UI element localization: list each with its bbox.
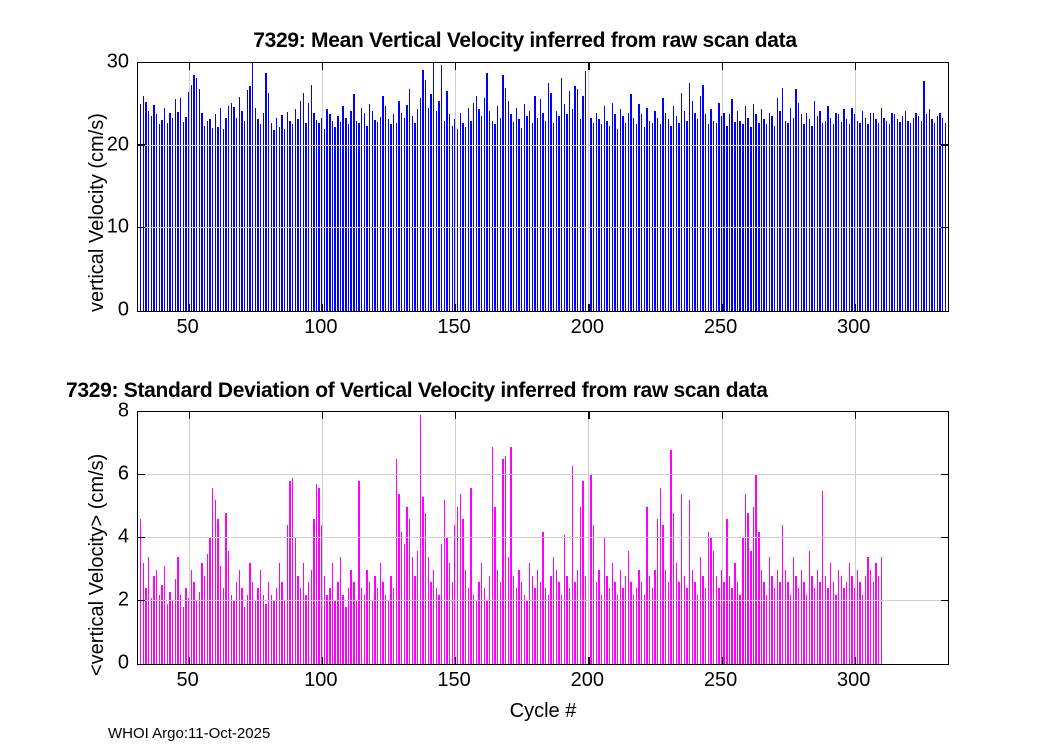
tick-x	[322, 412, 323, 419]
bar	[390, 124, 391, 311]
bar	[276, 118, 277, 311]
bar	[404, 118, 405, 311]
bar	[209, 538, 210, 664]
bar	[790, 108, 791, 311]
bar	[734, 122, 735, 311]
bar	[156, 570, 157, 665]
bar	[199, 592, 200, 664]
bar	[886, 121, 887, 311]
bar	[334, 601, 335, 664]
bar	[534, 96, 535, 311]
bar	[489, 576, 490, 664]
bar	[934, 123, 935, 311]
bar	[180, 98, 181, 311]
tick-y	[138, 144, 145, 145]
bar	[574, 86, 575, 311]
bar	[558, 582, 559, 664]
bar	[769, 557, 770, 664]
bar	[540, 582, 541, 664]
bar	[209, 119, 210, 311]
bar	[279, 127, 280, 311]
bar	[233, 107, 234, 311]
gridline-vertical	[855, 63, 856, 311]
bar	[380, 117, 381, 311]
bar	[513, 576, 514, 664]
bar	[657, 118, 658, 311]
tick-x	[455, 657, 456, 664]
tick-x	[722, 412, 723, 419]
bar	[580, 119, 581, 311]
bar	[324, 129, 325, 311]
bar	[819, 582, 820, 664]
tick-x	[855, 63, 856, 70]
bar	[657, 519, 658, 664]
bar	[785, 570, 786, 665]
bar	[191, 570, 192, 665]
bar	[425, 80, 426, 311]
bar	[761, 570, 762, 665]
bar	[793, 118, 794, 311]
bar	[870, 570, 871, 665]
bar	[574, 582, 575, 664]
bar	[785, 121, 786, 311]
bar	[921, 121, 922, 311]
bar	[401, 532, 402, 664]
bar	[180, 595, 181, 664]
bar	[239, 570, 240, 665]
bar	[644, 595, 645, 664]
bar	[295, 538, 296, 664]
bar	[881, 108, 882, 311]
bar	[692, 101, 693, 311]
bar	[577, 570, 578, 665]
bar	[915, 113, 916, 311]
tick-x	[322, 657, 323, 664]
x-tick-label: 200	[571, 669, 604, 692]
bar	[436, 111, 437, 311]
bar	[303, 93, 304, 311]
bar	[923, 81, 924, 311]
bar	[444, 121, 445, 311]
bar	[369, 582, 370, 664]
bar	[673, 513, 674, 664]
bar	[540, 99, 541, 311]
bar	[553, 123, 554, 311]
bar	[311, 570, 312, 665]
bar	[939, 113, 940, 311]
bar	[172, 601, 173, 664]
bar	[827, 106, 828, 311]
bar	[268, 582, 269, 664]
mean-velocity-y-axis-label: vertical Velocity (cm/s)	[86, 113, 109, 312]
bar	[676, 563, 677, 664]
bar	[644, 127, 645, 311]
bar	[382, 582, 383, 664]
tick-x	[455, 63, 456, 70]
bar	[716, 123, 717, 311]
bar	[422, 497, 423, 664]
bar	[625, 576, 626, 664]
bar	[316, 484, 317, 664]
bar	[817, 570, 818, 665]
bar	[388, 601, 389, 664]
bar	[790, 595, 791, 664]
bar	[660, 124, 661, 311]
bar	[638, 104, 639, 311]
argo-float-velocity-figure: 7329: Mean Vertical Velocity inferred fr…	[0, 0, 1050, 750]
bar	[726, 126, 727, 311]
bar	[231, 595, 232, 664]
bar	[228, 106, 229, 311]
bar	[907, 121, 908, 311]
bar	[550, 93, 551, 311]
tick-x	[189, 63, 190, 70]
bar	[548, 83, 549, 311]
bar	[428, 557, 429, 664]
bar	[398, 101, 399, 311]
bar	[220, 108, 221, 311]
gridline-vertical	[588, 63, 589, 311]
gridline-vertical	[588, 412, 589, 664]
bar	[385, 106, 386, 311]
std-velocity-bar-series	[138, 412, 948, 664]
gridline-horizontal	[138, 474, 948, 475]
bar	[358, 481, 359, 664]
bar	[708, 124, 709, 311]
bar	[521, 128, 522, 311]
bar	[537, 570, 538, 665]
bar	[564, 104, 565, 311]
bar	[601, 124, 602, 311]
bar	[763, 119, 764, 311]
bar	[841, 122, 842, 311]
bar	[529, 111, 530, 311]
x-tick-label: 250	[704, 316, 737, 339]
figure-footer-credit: WHOI Argo:11-Oct-2025	[108, 725, 270, 742]
bar	[859, 582, 860, 664]
bar	[500, 118, 501, 311]
bar	[913, 118, 914, 311]
bar	[811, 576, 812, 664]
bar	[470, 121, 471, 311]
x-tick-label: 100	[304, 316, 337, 339]
bar	[425, 513, 426, 664]
bar	[689, 500, 690, 664]
bar	[167, 123, 168, 311]
bar	[353, 94, 354, 311]
bar	[414, 576, 415, 664]
tick-y	[138, 600, 145, 601]
bar	[353, 582, 354, 664]
bar	[217, 127, 218, 311]
bar	[500, 582, 501, 664]
bar	[478, 109, 479, 311]
bar	[758, 532, 759, 664]
x-tick-label: 300	[837, 316, 870, 339]
bar	[761, 109, 762, 311]
bar	[513, 122, 514, 311]
bar	[481, 563, 482, 664]
bar	[361, 108, 362, 311]
bar	[284, 129, 285, 311]
bar	[228, 551, 229, 664]
bar	[681, 93, 682, 311]
bar	[164, 108, 165, 311]
bar	[803, 582, 804, 664]
bar	[350, 111, 351, 311]
tick-x	[855, 304, 856, 311]
bar	[318, 123, 319, 311]
bar	[289, 121, 290, 311]
bar	[628, 113, 629, 311]
bar	[668, 119, 669, 311]
bar	[374, 576, 375, 664]
bar	[452, 126, 453, 311]
bar	[747, 513, 748, 664]
bar	[561, 78, 562, 311]
bar	[140, 104, 141, 311]
bar	[148, 111, 149, 311]
bar	[604, 106, 605, 311]
bar	[396, 123, 397, 311]
bar	[494, 507, 495, 665]
x-tick-label: 50	[177, 316, 199, 339]
bar	[742, 538, 743, 664]
bar	[646, 507, 647, 665]
bar	[686, 121, 687, 311]
bar	[217, 519, 218, 664]
x-tick-label: 150	[437, 316, 470, 339]
bar	[883, 118, 884, 311]
bar	[569, 91, 570, 311]
bar	[596, 582, 597, 664]
bar	[284, 601, 285, 664]
bar	[326, 595, 327, 664]
x-tick-label: 250	[704, 669, 737, 692]
bar	[870, 113, 871, 311]
bar	[625, 123, 626, 311]
bar	[183, 122, 184, 311]
bar	[835, 113, 836, 311]
bar	[620, 109, 621, 311]
bar	[345, 607, 346, 664]
bar	[273, 130, 274, 311]
bar	[931, 119, 932, 311]
bar	[614, 582, 615, 664]
bar	[297, 119, 298, 311]
bar	[236, 582, 237, 664]
bar	[249, 86, 250, 311]
bar	[745, 106, 746, 311]
bar	[247, 595, 248, 664]
bar	[718, 103, 719, 311]
bar	[169, 592, 170, 664]
bar	[758, 123, 759, 311]
bar	[684, 111, 685, 311]
gridline-vertical	[189, 412, 190, 664]
bar	[841, 576, 842, 664]
bar	[145, 102, 146, 311]
bar	[438, 595, 439, 664]
gridline-vertical	[455, 412, 456, 664]
tick-x	[588, 657, 589, 664]
bar	[708, 532, 709, 664]
bar	[417, 109, 418, 311]
bar	[313, 519, 314, 664]
bar	[646, 108, 647, 311]
bar	[771, 576, 772, 664]
tick-x	[588, 304, 589, 311]
bar	[489, 111, 490, 311]
bar	[223, 129, 224, 311]
bar	[193, 75, 194, 311]
mean-velocity-bar-series	[138, 63, 948, 311]
bar	[641, 582, 642, 664]
bar	[737, 582, 738, 664]
bar	[153, 576, 154, 664]
bar	[287, 525, 288, 664]
tick-y	[941, 537, 948, 538]
bar	[875, 563, 876, 664]
gridline-horizontal	[138, 600, 948, 601]
bar	[782, 525, 783, 664]
bar	[723, 113, 724, 311]
bar	[806, 595, 807, 664]
bar	[199, 89, 200, 311]
bar	[303, 563, 304, 664]
bar	[316, 120, 317, 311]
tick-x	[588, 63, 589, 70]
bar	[358, 123, 359, 311]
bar	[279, 563, 280, 664]
gridline-vertical	[722, 412, 723, 664]
bar	[662, 525, 663, 664]
bar	[420, 415, 421, 664]
bar	[337, 582, 338, 664]
bar	[582, 96, 583, 311]
bar	[406, 507, 407, 665]
bar	[201, 113, 202, 311]
bar	[662, 98, 663, 311]
bar	[476, 96, 477, 311]
bar	[524, 595, 525, 664]
bar	[452, 582, 453, 664]
x-tick-label: 200	[571, 316, 604, 339]
bar	[739, 595, 740, 664]
bar	[372, 111, 373, 311]
bar	[313, 113, 314, 311]
bar	[263, 113, 264, 311]
bar	[763, 582, 764, 664]
std-velocity-y-axis-label: <vertical Velocity> (cm/s)	[86, 454, 109, 676]
bar	[191, 85, 192, 311]
bar	[462, 123, 463, 311]
bar	[292, 478, 293, 664]
bar	[518, 570, 519, 665]
bar	[750, 551, 751, 664]
bar	[628, 551, 629, 664]
tick-x	[855, 412, 856, 419]
bar	[169, 113, 170, 311]
bar	[910, 123, 911, 311]
bar	[548, 595, 549, 664]
bar	[167, 604, 168, 664]
bar	[396, 459, 397, 664]
bar	[268, 93, 269, 311]
bar	[215, 500, 216, 664]
bar	[819, 111, 820, 311]
bar	[612, 563, 613, 664]
tick-y	[941, 144, 948, 145]
bar	[545, 121, 546, 311]
bar	[742, 124, 743, 311]
bar	[609, 126, 610, 311]
bar	[510, 447, 511, 664]
bar	[473, 595, 474, 664]
bar	[851, 108, 852, 311]
bar	[521, 582, 522, 664]
bar	[175, 579, 176, 664]
bar	[492, 121, 493, 311]
bar	[159, 595, 160, 664]
bar	[692, 570, 693, 665]
tick-x	[322, 304, 323, 311]
bar	[207, 554, 208, 664]
bar	[356, 601, 357, 664]
bar	[612, 103, 613, 311]
bar	[897, 119, 898, 311]
bar	[859, 123, 860, 311]
bar	[449, 563, 450, 664]
bar	[305, 123, 306, 311]
bar	[929, 109, 930, 311]
bar	[878, 576, 879, 664]
bar	[590, 475, 591, 664]
bar	[231, 103, 232, 311]
bar	[462, 519, 463, 664]
bar	[444, 500, 445, 664]
bar	[905, 111, 906, 311]
bar	[508, 101, 509, 311]
bar	[556, 570, 557, 665]
bar	[766, 595, 767, 664]
bar	[502, 75, 503, 311]
bar	[689, 83, 690, 311]
bar	[271, 595, 272, 664]
bar	[406, 105, 407, 311]
bar	[649, 121, 650, 311]
bar	[795, 576, 796, 664]
bar	[822, 491, 823, 664]
bar	[484, 98, 485, 311]
bar	[409, 89, 410, 311]
bar	[324, 576, 325, 664]
bar	[369, 104, 370, 311]
bar	[318, 488, 319, 664]
tick-y	[941, 227, 948, 228]
bar	[532, 576, 533, 664]
bar	[260, 570, 261, 665]
bar	[617, 595, 618, 664]
bar	[505, 88, 506, 311]
bar	[412, 557, 413, 664]
bar	[532, 123, 533, 311]
bar	[572, 109, 573, 311]
x-tick-label: 150	[437, 669, 470, 692]
bar	[787, 123, 788, 311]
bar	[750, 127, 751, 311]
bar	[295, 109, 296, 311]
